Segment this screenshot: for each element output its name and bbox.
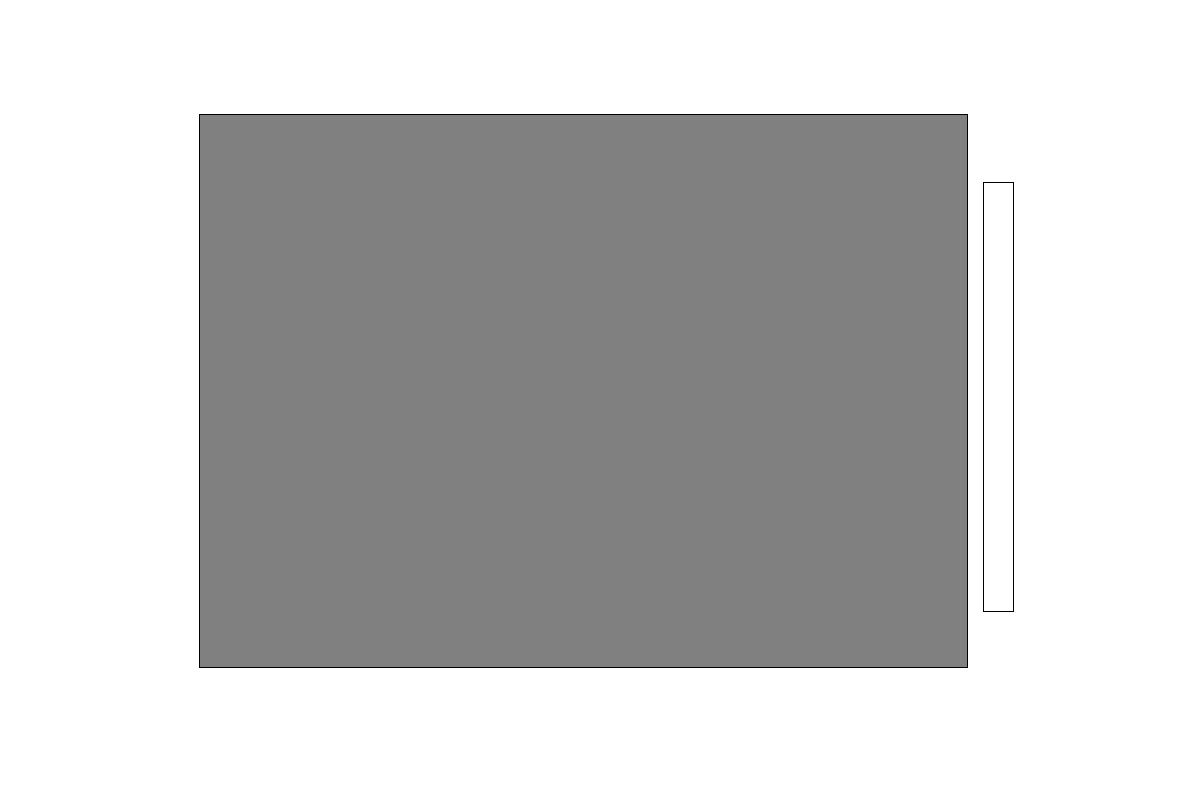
colorbar-gradient bbox=[984, 183, 1013, 611]
colorbar bbox=[983, 182, 1014, 612]
radar-timeheight-plot bbox=[199, 114, 968, 668]
reflectivity-heatmap bbox=[200, 115, 967, 667]
figure-canvas bbox=[0, 0, 1200, 800]
